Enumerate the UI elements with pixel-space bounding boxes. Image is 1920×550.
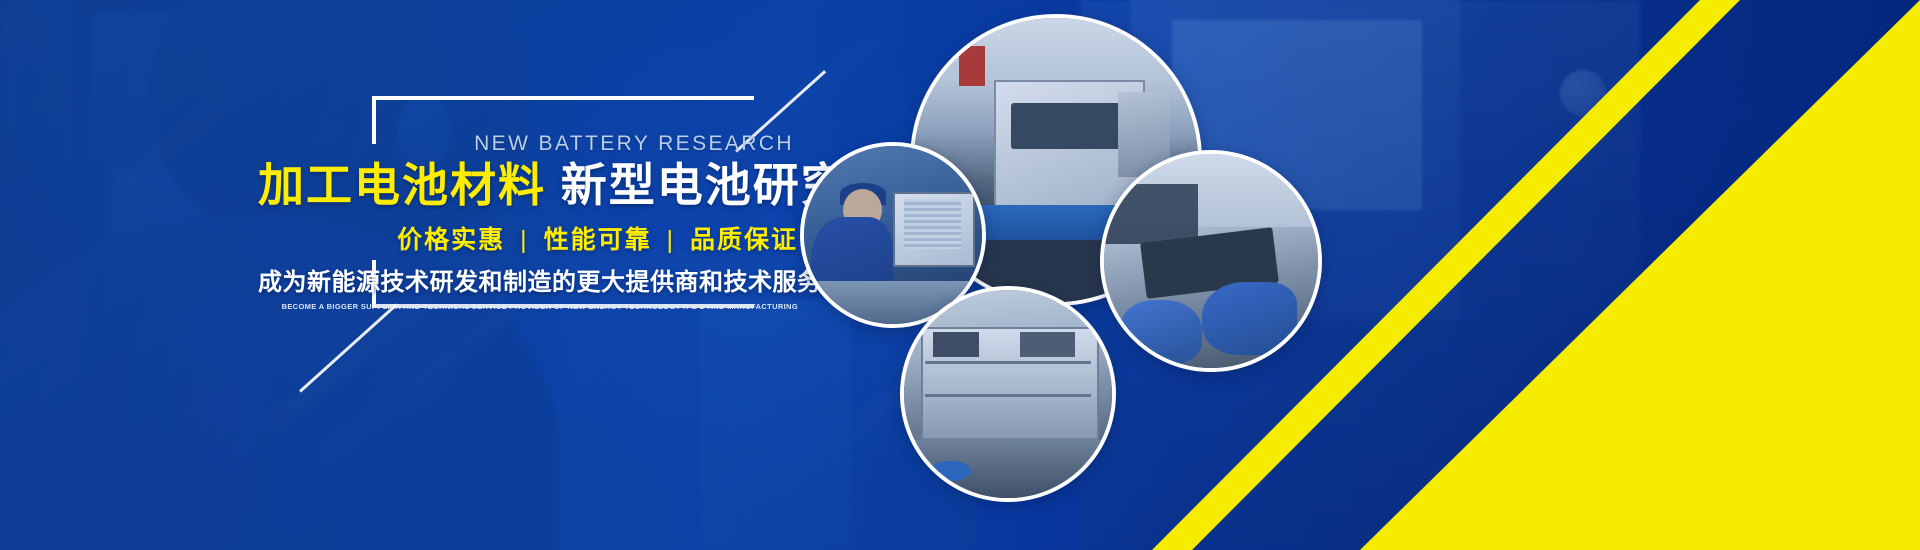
photo-circle-electrode-handling (1100, 150, 1322, 372)
tagline: 成为新能源技术研发和制造的更大提供商和技术服务商 (258, 262, 798, 297)
hero-banner: NEW BATTERY RESEARCH 加工电池材料 新型电池研究 价格实惠 … (0, 0, 1920, 550)
feature-separator: | (661, 226, 682, 254)
english-eyebrow: NEW BATTERY RESEARCH (258, 132, 798, 156)
headline-part-yellow: 加工电池材料 (258, 159, 546, 211)
feature-item-price: 价格实惠 (397, 226, 505, 254)
feature-item-quality: 品质保证 (690, 226, 798, 254)
feature-list: 价格实惠 | 性能可靠 | 品质保证 (258, 220, 798, 256)
page-title: 加工电池材料 新型电池研究 (258, 160, 798, 212)
feature-item-performance: 性能可靠 (544, 226, 652, 254)
english-tagline: BECOME A BIGGER SUPPLIER AND TECHNICAL S… (258, 302, 798, 311)
feature-separator: | (514, 226, 535, 254)
banner-copy: NEW BATTERY RESEARCH 加工电池材料 新型电池研究 价格实惠 … (258, 132, 798, 311)
photo-circle-equipment-racks (900, 286, 1116, 502)
photo-tint (904, 290, 1112, 498)
photo-tint (1104, 154, 1318, 368)
